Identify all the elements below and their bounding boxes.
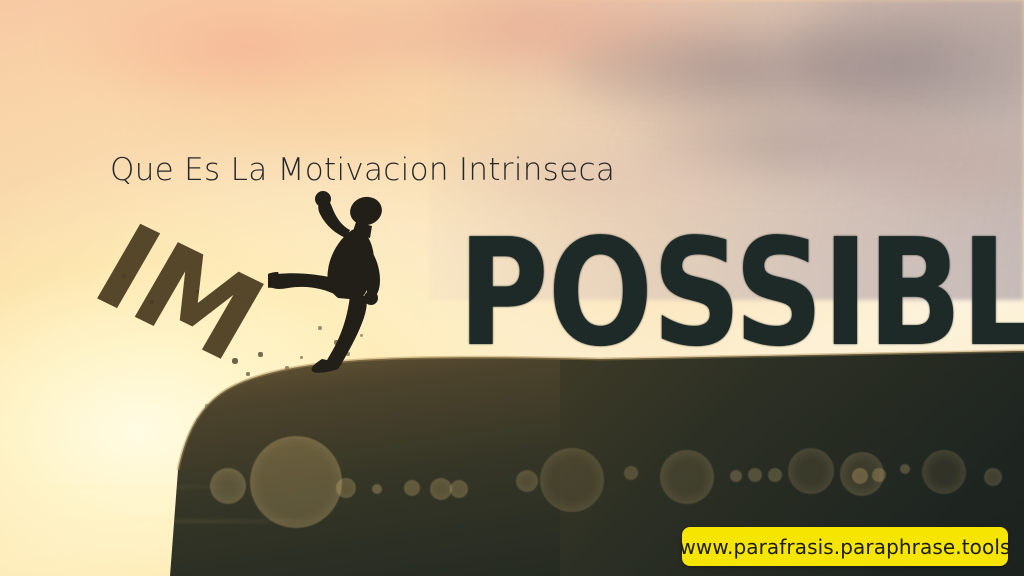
watermark-badge[interactable]: www.parafrasis.paraphrase.tools bbox=[682, 527, 1008, 566]
watermark-url-text: www.parafrasis.paraphrase.tools bbox=[679, 535, 1010, 559]
banner-image: IM POSSIBLE bbox=[0, 0, 1024, 576]
page-title: Que Es La Motivacion Intrinseca bbox=[110, 152, 615, 188]
sky-gray-wash bbox=[430, 0, 1024, 300]
